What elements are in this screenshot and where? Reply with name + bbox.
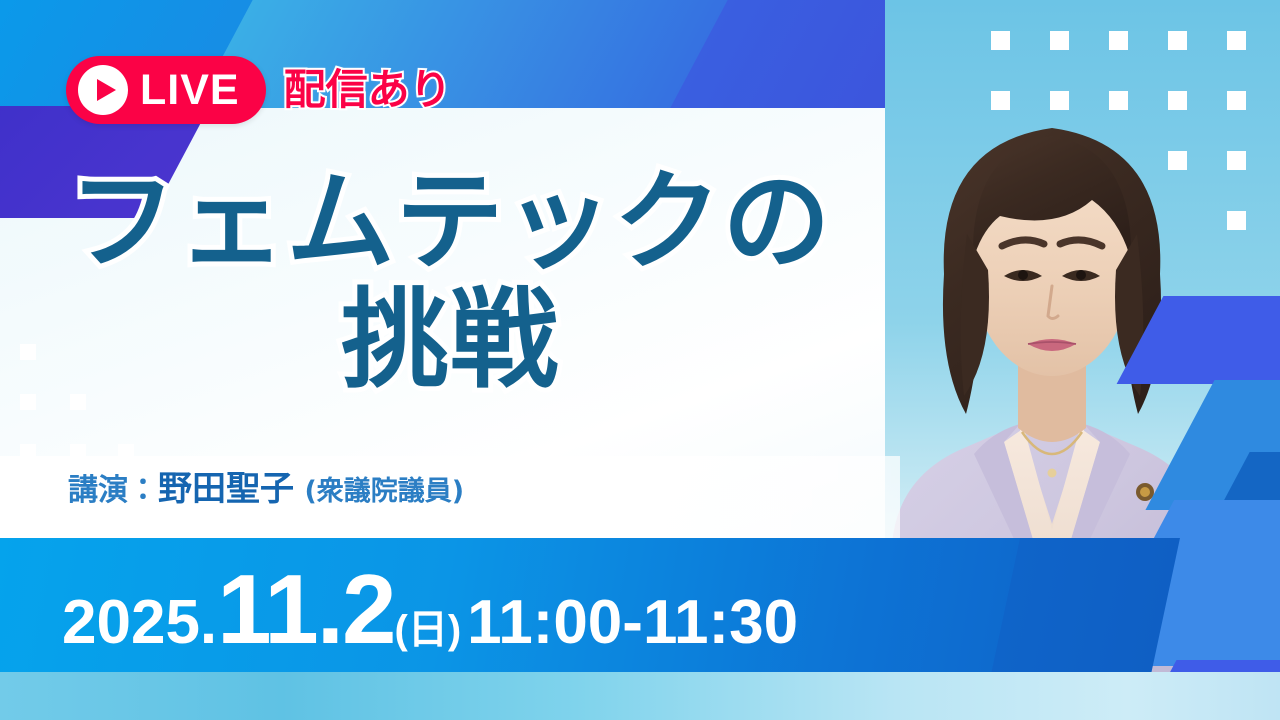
schedule-time: 11:00-11:30: [467, 592, 798, 654]
schedule-date: 11.2: [217, 560, 394, 658]
live-row: LIVE 配信あり: [66, 56, 452, 124]
decor-bottom-strip: [0, 672, 1280, 720]
live-label: LIVE: [140, 69, 240, 112]
speaker-prefix: 講演：: [68, 473, 158, 508]
live-note-label: 配信あり: [284, 69, 452, 111]
schedule-year: 2025.: [62, 592, 217, 654]
schedule-text: 2025.11.2(日)11:00-11:30: [62, 560, 798, 658]
date-bar-skew-tail: [992, 538, 1180, 672]
schedule-day-of-week: (日): [395, 610, 462, 650]
speaker-role: (衆議院議員): [304, 476, 464, 507]
title-line-1: フェムテックの: [0, 168, 900, 278]
play-icon: [78, 65, 128, 115]
page-title: フェムテックの 挑戦: [0, 168, 900, 396]
speaker-name: 野田聖子: [158, 469, 294, 509]
seminar-banner: LIVE 配信あり フェムテックの 挑戦 講演：野田聖子 (衆議院議員) 202…: [0, 0, 1280, 720]
live-badge[interactable]: LIVE: [66, 56, 266, 124]
speaker-line: 講演：野田聖子 (衆議院議員): [68, 472, 464, 506]
title-line-2: 挑戦: [0, 286, 900, 396]
